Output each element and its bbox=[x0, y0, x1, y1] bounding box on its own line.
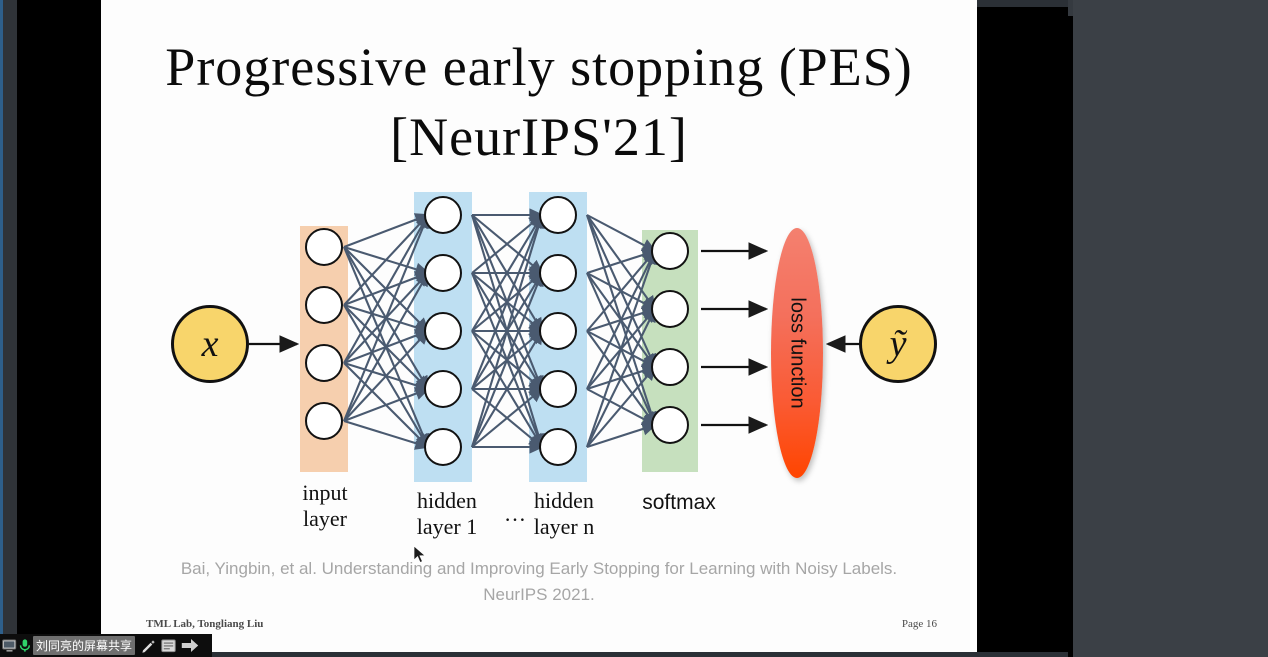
hidden1-node bbox=[424, 428, 462, 466]
input-node bbox=[305, 344, 343, 382]
citation-line1: Bai, Yingbin, et al. Understanding and I… bbox=[181, 559, 897, 578]
loss-function-ellipse: loss function bbox=[771, 228, 823, 478]
hiddenn-node bbox=[539, 370, 577, 408]
softmax-node bbox=[651, 232, 689, 270]
annotate-pencil-icon[interactable] bbox=[141, 638, 156, 653]
arrow-right-icon[interactable] bbox=[181, 638, 199, 653]
hidden-layer-n-label-text: hidden layer n bbox=[534, 488, 594, 539]
input-node bbox=[305, 228, 343, 266]
hidden1-node bbox=[424, 254, 462, 292]
citation-line2: NeurIPS 2021. bbox=[483, 585, 595, 604]
zoom-meeting-window: Progressive early stopping (PES) [NeurIP… bbox=[0, 0, 1268, 657]
input-node bbox=[305, 402, 343, 440]
softmax-node bbox=[651, 290, 689, 328]
hidden1-node bbox=[424, 196, 462, 234]
window-left-chrome bbox=[3, 0, 17, 657]
participant-rail: 刘同亮 王翔 bbox=[1073, 0, 1268, 657]
slide-page-number: Page 16 bbox=[902, 618, 937, 630]
noisy-label-symbol: ỹ bbox=[890, 322, 907, 366]
input-layer-label-text: input layer bbox=[302, 480, 347, 531]
monitor-share-icon[interactable] bbox=[2, 639, 17, 653]
hiddenn-node bbox=[539, 196, 577, 234]
hiddenn-node bbox=[539, 428, 577, 466]
input-layer-label: input layer bbox=[279, 480, 371, 532]
neural-network-diagram: x ỹ loss function input layer hidden lay… bbox=[101, 186, 977, 561]
share-taskbar: 刘同亮的屏幕共享 bbox=[0, 634, 212, 657]
hidden1-node bbox=[424, 370, 462, 408]
hidden-layer-1-label: hidden layer 1 bbox=[397, 488, 497, 540]
softmax-node bbox=[651, 348, 689, 386]
slide-title: Progressive early stopping (PES) [NeurIP… bbox=[101, 32, 977, 172]
slide-title-line1: Progressive early stopping (PES) bbox=[165, 37, 912, 97]
slide-title-line2: [NeurIPS'21] bbox=[101, 102, 977, 172]
hidden-layer-n-label: hidden layer n bbox=[513, 488, 615, 540]
loss-function-label: loss function bbox=[786, 297, 809, 408]
slide-citation: Bai, Yingbin, et al. Understanding and I… bbox=[101, 556, 977, 608]
input-node bbox=[305, 286, 343, 324]
softmax-layer-label: softmax bbox=[619, 490, 739, 516]
share-window-label: 刘同亮的屏幕共享 bbox=[36, 637, 132, 654]
hiddenn-node bbox=[539, 312, 577, 350]
noisy-label-circle: ỹ bbox=[859, 305, 937, 383]
softmax-node bbox=[651, 406, 689, 444]
softmax-label-text: softmax bbox=[642, 491, 716, 514]
hiddenn-node bbox=[539, 254, 577, 292]
panel-icon[interactable] bbox=[161, 639, 176, 653]
input-x-circle: x bbox=[171, 305, 249, 383]
shared-slide: Progressive early stopping (PES) [NeurIP… bbox=[101, 0, 977, 640]
window-bottom-edge bbox=[210, 652, 1068, 657]
hidden-layer-1-label-text: hidden layer 1 bbox=[417, 488, 477, 539]
microphone-icon[interactable] bbox=[19, 638, 31, 653]
share-window-item[interactable]: 刘同亮的屏幕共享 bbox=[33, 636, 135, 655]
hidden1-node bbox=[424, 312, 462, 350]
slide-footer-left: TML Lab, Tongliang Liu bbox=[146, 618, 263, 630]
input-x-symbol: x bbox=[202, 322, 219, 366]
